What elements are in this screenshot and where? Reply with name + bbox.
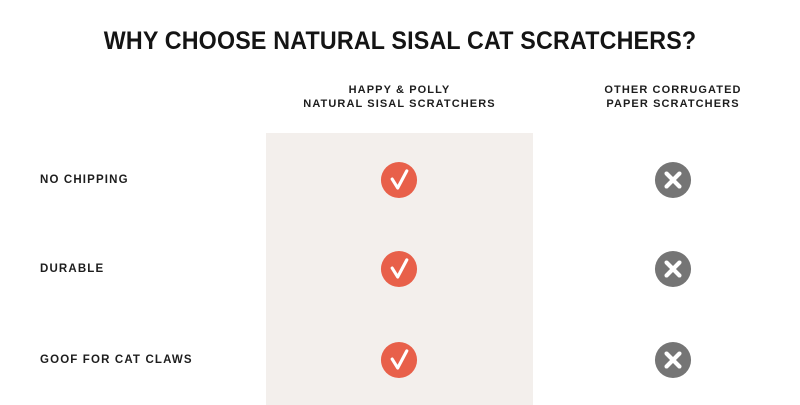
- cell-featured: [380, 341, 418, 379]
- cell-featured: [380, 161, 418, 199]
- table-row: GOOF FOR CAT CLAWS: [0, 341, 800, 379]
- cell-featured: [380, 250, 418, 288]
- cell-other: [654, 161, 692, 199]
- check-circle-icon: [380, 161, 418, 199]
- check-circle-icon: [380, 250, 418, 288]
- row-label: DURABLE: [40, 250, 104, 288]
- check-circle-icon: [380, 341, 418, 379]
- row-label: NO CHIPPING: [40, 161, 129, 199]
- column-header-featured-line2: NATURAL SISAL SCRATCHERS: [253, 97, 546, 111]
- row-label: GOOF FOR CAT CLAWS: [40, 341, 193, 379]
- cell-other: [654, 250, 692, 288]
- column-header-featured: HAPPY & POLLY NATURAL SISAL SCRATCHERS: [253, 83, 546, 111]
- cross-circle-icon: [654, 250, 692, 288]
- column-header-other-line2: PAPER SCRATCHERS: [548, 97, 798, 111]
- table-row: NO CHIPPING: [0, 161, 800, 199]
- cross-circle-icon: [654, 161, 692, 199]
- table-row: DURABLE: [0, 250, 800, 288]
- column-header-featured-line1: HAPPY & POLLY: [253, 83, 546, 97]
- column-header-other-line1: OTHER CORRUGATED: [548, 83, 798, 97]
- cross-circle-icon: [654, 341, 692, 379]
- comparison-table: WHY CHOOSE NATURAL SISAL CAT SCRATCHERS?…: [0, 0, 800, 405]
- page-title: WHY CHOOSE NATURAL SISAL CAT SCRATCHERS?: [28, 26, 772, 56]
- cell-other: [654, 341, 692, 379]
- column-header-other: OTHER CORRUGATED PAPER SCRATCHERS: [548, 83, 798, 111]
